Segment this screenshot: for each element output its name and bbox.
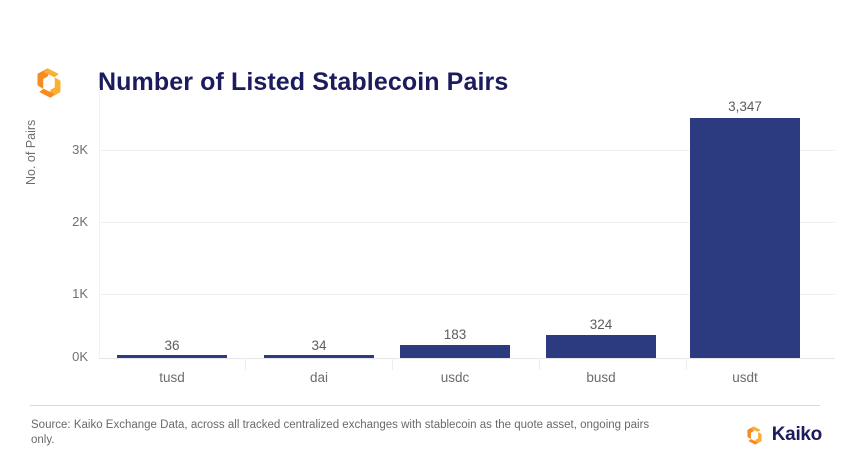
bar-value-usdc: 183 [400,327,510,342]
bar-value-dai: 34 [264,338,374,353]
y-tick-label-2k: 2K [48,214,88,229]
bar-usdt[interactable] [690,118,800,358]
chart-plot-area: No. of Pairs 3K 2K 1K 0K 36 34 183 324 3… [0,0,850,400]
y-tick-label-0k: 0K [48,349,88,364]
x-tick-label-dai: dai [264,370,374,385]
x-tick-label-usdc: usdc [400,370,510,385]
x-tick-label-tusd: tusd [117,370,227,385]
gridline-0k-baseline [99,358,835,359]
brand-wordmark: Kaiko [772,424,822,446]
x-separator [245,358,246,370]
bar-value-tusd: 36 [117,338,227,353]
source-note: Source: Kaiko Exchange Data, across all … [31,418,671,448]
bar-value-usdt: 3,347 [690,99,800,114]
chart-page: Number of Listed Stablecoin Pairs No. of… [0,0,850,463]
x-separator [392,358,393,370]
kaiko-hexagon-logo-icon [744,425,765,446]
x-tick-label-usdt: usdt [690,370,800,385]
bar-value-busd: 324 [546,317,656,332]
bar-usdc[interactable] [400,345,510,358]
bar-busd[interactable] [546,335,656,358]
footer-divider [30,405,820,406]
bar-dai[interactable] [264,355,374,358]
x-tick-label-busd: busd [546,370,656,385]
y-tick-label-1k: 1K [48,286,88,301]
x-separator [686,358,687,370]
y-tick-label-3k: 3K [48,142,88,157]
y-axis-line [99,88,100,358]
footer-brand-logo: Kaiko [744,423,822,447]
bar-tusd[interactable] [117,355,227,358]
y-axis-title: No. of Pairs [24,65,38,185]
x-separator [539,358,540,370]
